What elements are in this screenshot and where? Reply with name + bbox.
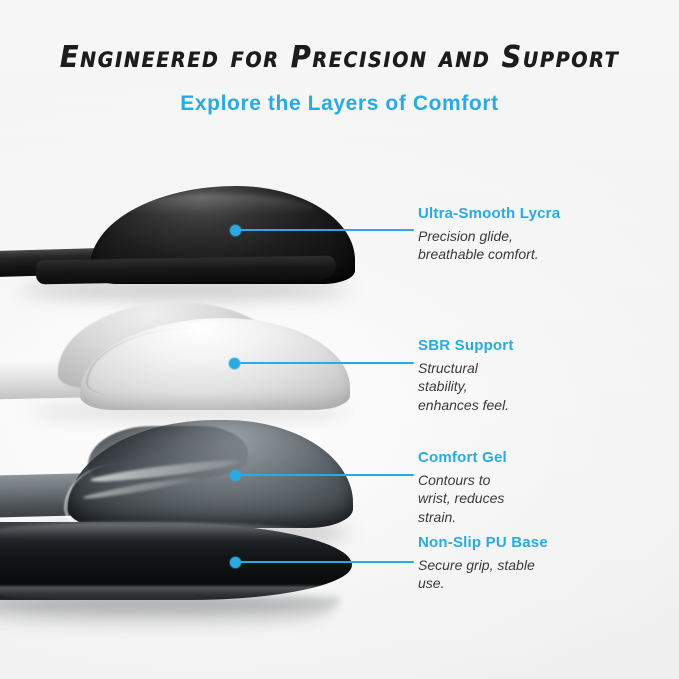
callout-description: Contours to wrist, reduces strain. <box>418 471 507 526</box>
product-layer-pu-base <box>0 512 370 632</box>
callout-title: Non-Slip PU Base <box>418 534 548 551</box>
callout-dot <box>230 225 241 236</box>
callout-dot <box>230 470 241 481</box>
pu-top-gloss <box>0 522 330 540</box>
callout-description: Structural stability, enhances feel. <box>418 359 514 414</box>
callout-leader-line <box>240 229 414 231</box>
lycra-contact-shadow <box>20 282 350 298</box>
page-title: Engineered for Precision and Support <box>34 40 645 75</box>
callout-title: Comfort Gel <box>418 449 507 466</box>
page-subtitle: Explore the Layers of Comfort <box>0 92 679 116</box>
product-layer-lycra-cover <box>0 186 360 296</box>
callout-text-block: SBR Support Structural stability, enhanc… <box>418 337 514 414</box>
pu-floor-reflection <box>0 598 340 638</box>
callout-title: SBR Support <box>418 337 514 354</box>
callout-dot <box>230 557 241 568</box>
infographic-canvas: Engineered for Precision and Support Exp… <box>0 0 679 679</box>
callout-dot <box>229 358 240 369</box>
callout-leader-line <box>240 561 414 563</box>
callout-text-block: Non-Slip PU Base Secure grip, stable use… <box>418 534 548 593</box>
callout-text-block: Ultra-Smooth Lycra Precision glide, brea… <box>418 205 560 264</box>
callout-text-block: Comfort Gel Contours to wrist, reduces s… <box>418 449 507 526</box>
lycra-base-lip <box>36 256 336 285</box>
product-layer-sbr-foam <box>0 300 360 420</box>
callout-description: Precision glide, breathable comfort. <box>418 227 560 264</box>
callout-leader-line <box>240 474 414 476</box>
callout-title: Ultra-Smooth Lycra <box>418 205 560 222</box>
callout-description: Secure grip, stable use. <box>418 556 548 593</box>
callout-leader-line <box>240 362 414 364</box>
